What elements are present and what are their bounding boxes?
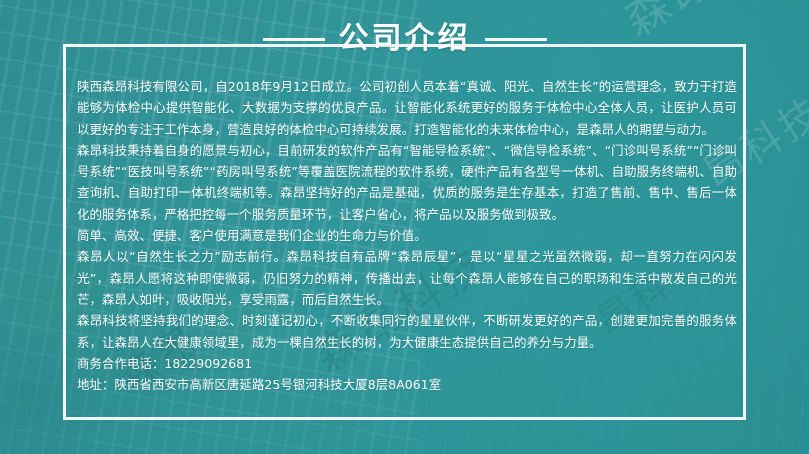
paragraph-products: 森昂科技秉持着自身的愿景与初心，目前研发的软件产品有“智能导检系统”、“微信导检… (77, 140, 737, 225)
page-title-text: 公司介绍 (339, 24, 471, 54)
paragraph-values: 简单、高效、便捷、客户使用满意是我们企业的生命力与价值。 (77, 225, 737, 246)
paragraph-company-founding: 陕西森昂科技有限公司，自2018年9月12日成立。公司初创人员本着“真诚、阳光、… (77, 76, 737, 140)
contact-phone: 商务合作电话：18229092681 (77, 353, 737, 374)
page-title: 公司介绍 (0, 24, 809, 54)
contact-address: 地址：陕西省西安市高新区唐延路25号银河科技大厦8层8A061室 (77, 374, 737, 395)
company-introduction-banner: 森昂科技 昂科技 森昂科技 森昂 科技 昂科 公司介绍 陕西森昂科技有限公司，自… (0, 0, 809, 454)
paragraph-brand: 森昂人以“自然生长之力”励志前行。森昂科技自有品牌“森昂辰星”，是以“星星之光虽… (77, 246, 737, 310)
introduction-body: 陕西森昂科技有限公司，自2018年9月12日成立。公司初创人员本着“真诚、阳光、… (77, 76, 737, 395)
paragraph-vision: 森昂科技将坚持我们的理念、时刻谨记初心，不断收集同行的星星伙伴，不断研发更好的产… (77, 310, 737, 353)
title-rule-right (485, 38, 547, 41)
title-rule-left (263, 38, 325, 41)
